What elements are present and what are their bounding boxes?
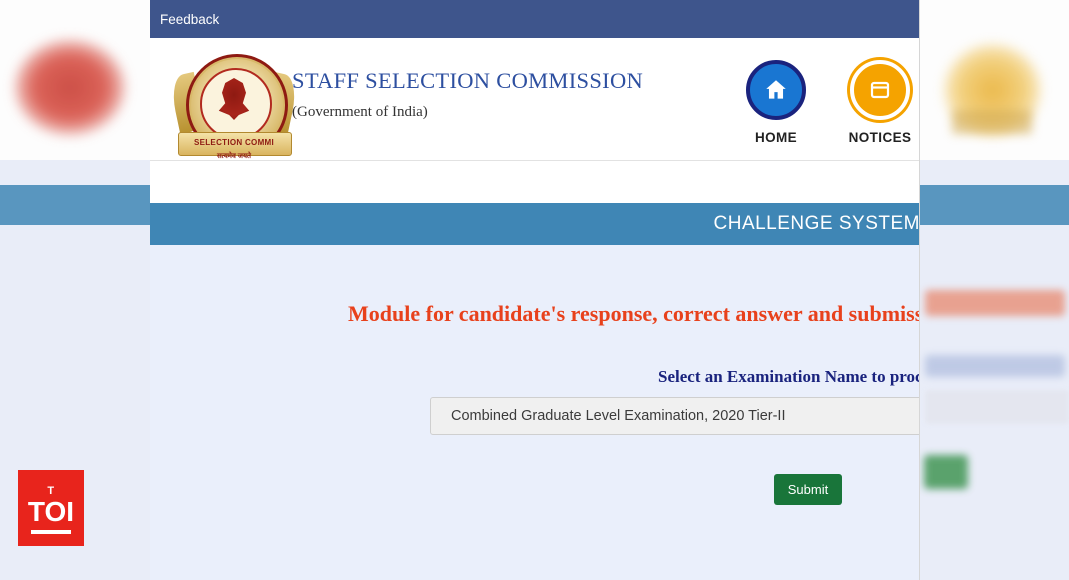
feedback-tab-label[interactable]: Feedback <box>150 12 219 27</box>
nav-label-home[interactable]: HOME <box>755 130 797 145</box>
site-header: SELECTION COMMI सत्यमेव जयते STAFF SELEC… <box>150 38 920 161</box>
national-emblem-logo: SELECTION COMMI सत्यमेव जयते <box>170 48 298 160</box>
nav-label-notices[interactable]: NOTICES <box>849 130 912 145</box>
exam-name-select[interactable]: Combined Graduate Level Examination, 202… <box>430 397 920 435</box>
feedback-bar[interactable]: Feedback <box>150 0 920 38</box>
organization-subtitle: (Government of India) <box>292 104 643 121</box>
background-right-button-blur <box>924 455 968 489</box>
background-left-emblem-blur <box>15 40 125 135</box>
window-icon[interactable] <box>850 60 910 120</box>
challenge-system-title: CHALLENGE SYSTEM <box>714 213 921 235</box>
home-icon[interactable] <box>746 60 806 120</box>
header-nav: HOME NOTICES <box>738 60 918 145</box>
background-left-blue-strip <box>0 185 150 225</box>
browser-panel: Feedback SELECTION COMMI सत्यमेव जयते ST… <box>150 0 920 580</box>
background-right-blue-strip <box>919 185 1069 225</box>
nav-item-home[interactable]: HOME <box>738 60 814 145</box>
organization-name: STAFF SELECTION COMMISSION <box>292 68 643 94</box>
background-right-select-blur <box>925 390 1069 424</box>
background-right-banner-blur <box>952 110 1032 134</box>
exam-select-label: Select an Examination Name to proceed <box>658 367 920 387</box>
module-headline: Module for candidate's response, correct… <box>348 301 920 327</box>
header-spacer <box>150 161 920 203</box>
organization-title: STAFF SELECTION COMMISSION (Government o… <box>292 68 643 121</box>
toi-logo-top-letter: T <box>47 485 54 497</box>
panel-right-edge <box>919 0 920 580</box>
main-content: Module for candidate's response, correct… <box>150 245 920 580</box>
toi-logo-main-text: TOI <box>28 497 74 527</box>
toi-logo-underline <box>31 530 71 534</box>
screenshot-root: T TOI Feedback SELECTION COMMI सत्यमेव ज… <box>0 0 1069 580</box>
nav-item-notices[interactable]: NOTICES <box>842 60 918 145</box>
background-right-headline-blur <box>925 290 1065 316</box>
background-right-label-blur <box>925 355 1065 377</box>
emblem-motto-text: सत्यमेव जयते <box>198 153 270 161</box>
exam-name-select-value[interactable]: Combined Graduate Level Examination, 202… <box>431 408 786 424</box>
toi-watermark-logo: T TOI <box>18 470 84 546</box>
challenge-system-bar: CHALLENGE SYSTEM <box>150 203 920 245</box>
emblem-banner-text: SELECTION COMMI <box>178 134 290 152</box>
submit-button[interactable]: Submit <box>774 474 842 505</box>
